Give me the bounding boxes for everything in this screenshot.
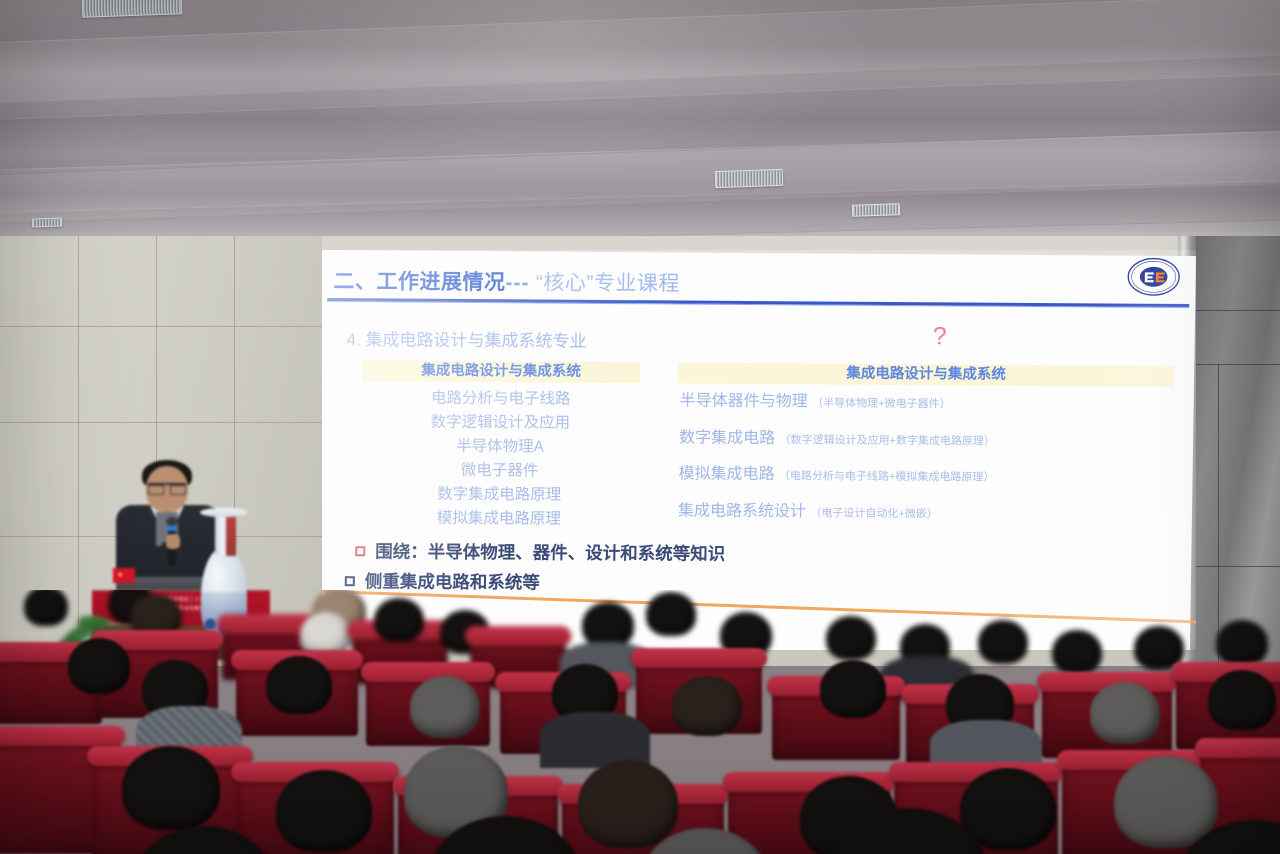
square-bullet-icon [355,546,365,556]
list-item: 模拟集成电路原理 [360,506,638,532]
list-item: 半导体物理A [361,434,639,460]
air-vent-icon [32,217,62,227]
course-name: 半导体器件与物理 [680,392,808,410]
right-course-list: 半导体器件与物理 （半导体物理+微电子器件） 数字集成电路 （数字逻辑设计及应用… [678,386,1180,535]
list-item: 数字集成电路 （数字逻辑设计及应用+数字集成电路原理） [679,423,1179,450]
slide-subheading: 4. 集成电路设计与集成系统专业 [346,325,586,352]
university-seal-logo: · · · · · · · · · · · · · · · · [1125,256,1182,298]
course-name: 集成电路系统设计 [678,502,806,520]
vase-red-inscription [226,516,236,556]
course-note: （数字逻辑设计及应用+数字集成电路原理） [779,434,995,448]
svg-text:· · · · · · ·: · · · · · · · [1147,259,1161,263]
course-note: （电路分析与电子线路+模拟集成电路原理） [779,470,995,484]
air-vent-icon [82,0,183,18]
course-note: （半导体物理+微电子器件） [812,397,951,410]
square-bullet-icon [345,576,355,586]
slide-title-bold: 二、工作进展情况 [333,270,505,294]
slide-title-dash: --- [505,271,529,294]
course-note: （电子设计自动化+微嵌） [810,507,938,520]
list-item: 数字逻辑设计及应用 [361,410,639,436]
list-item: 模拟集成电路 （电路分析与电子线路+模拟集成电路原理） [678,459,1178,486]
course-name: 数字集成电路 [679,429,775,447]
question-mark-annotation: ? [932,322,946,351]
vase-rim [200,508,248,517]
speaker-hand [166,534,180,549]
slide-title-light: “核心”专业课程 [536,271,680,295]
slide-bullet: 围绕：半导体物理、器件、设计和系统等知识 [355,538,725,566]
list-item: 半导体器件与物理 （半导体物理+微电子器件） [680,386,1180,413]
list-item: 集成电路系统设计 （电子设计自动化+微嵌） [678,496,1178,523]
audience [0,590,1280,854]
photo-scene: 二、工作进展情况--- “核心”专业课程 · · · · · · · · · ·… [0,0,1280,854]
microphone-head [166,517,178,526]
left-course-list: 电路分析与电子线路 数字逻辑设计及应用 半导体物理A 微电子器件 数字集成电路原… [360,386,640,532]
left-column-header: 集成电路设计与集成系统 [362,360,640,383]
svg-text:· · · · · · · · ·: · · · · · · · · · [1146,291,1161,295]
list-item: 微电子器件 [360,458,638,484]
list-item: 电路分析与电子线路 [361,386,639,412]
glasses-icon [148,483,186,491]
slide-title: 二、工作进展情况--- “核心”专业课程 [333,265,680,297]
flag-emblem-icon: ★ [117,572,123,579]
course-name: 模拟集成电路 [678,465,774,483]
right-column-header: 集成电路设计与集成系统 [678,362,1174,386]
air-vent-icon [715,169,784,188]
bullet-text: 围绕：半导体物理、器件、设计和系统等知识 [375,541,725,563]
ceiling-light-glow [240,0,880,180]
ceiling [0,0,1280,248]
list-item: 数字集成电路原理 [360,482,638,508]
air-vent-icon [852,203,900,217]
